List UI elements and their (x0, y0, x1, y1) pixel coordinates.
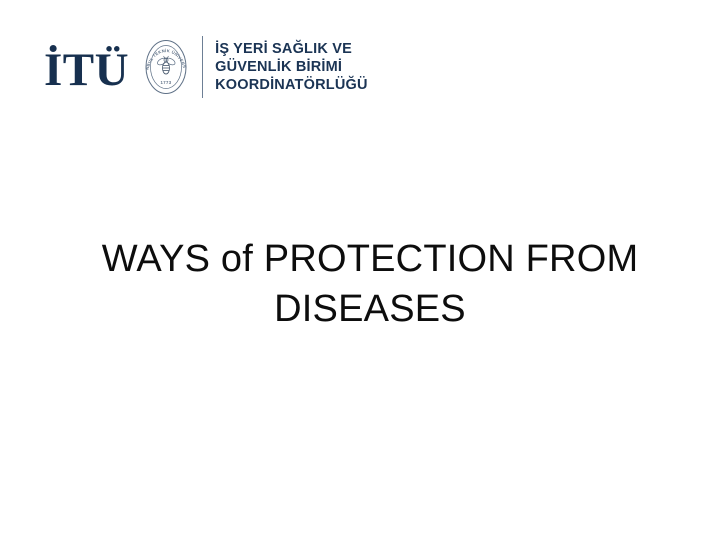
slide-title-line-1: WAYS of PROTECTION FROM (90, 234, 650, 284)
unit-name-line-3: KOORDİNATÖRLÜĞÜ (215, 76, 368, 94)
itu-logo-lockup: İTÜ İSTANBUL TEKNİK ÜNİVERSİTESİ (44, 30, 368, 104)
unit-name-block: İŞ YERİ SAĞLIK VE GÜVENLİK BİRİMİ KOORDİ… (215, 40, 368, 94)
presentation-slide: İTÜ İSTANBUL TEKNİK ÜNİVERSİTESİ (0, 0, 720, 540)
logo-vertical-divider (202, 36, 203, 98)
slide-title: WAYS of PROTECTION FROM DISEASES (90, 234, 650, 334)
itu-seal-icon: İSTANBUL TEKNİK ÜNİVERSİTESİ (142, 38, 190, 96)
svg-text:1773: 1773 (161, 80, 172, 85)
itu-wordmark: İTÜ (44, 47, 129, 94)
unit-name-line-1: İŞ YERİ SAĞLIK VE (215, 40, 368, 58)
slide-title-line-2: DISEASES (90, 284, 650, 334)
unit-name-line-2: GÜVENLİK BİRİMİ (215, 58, 368, 76)
